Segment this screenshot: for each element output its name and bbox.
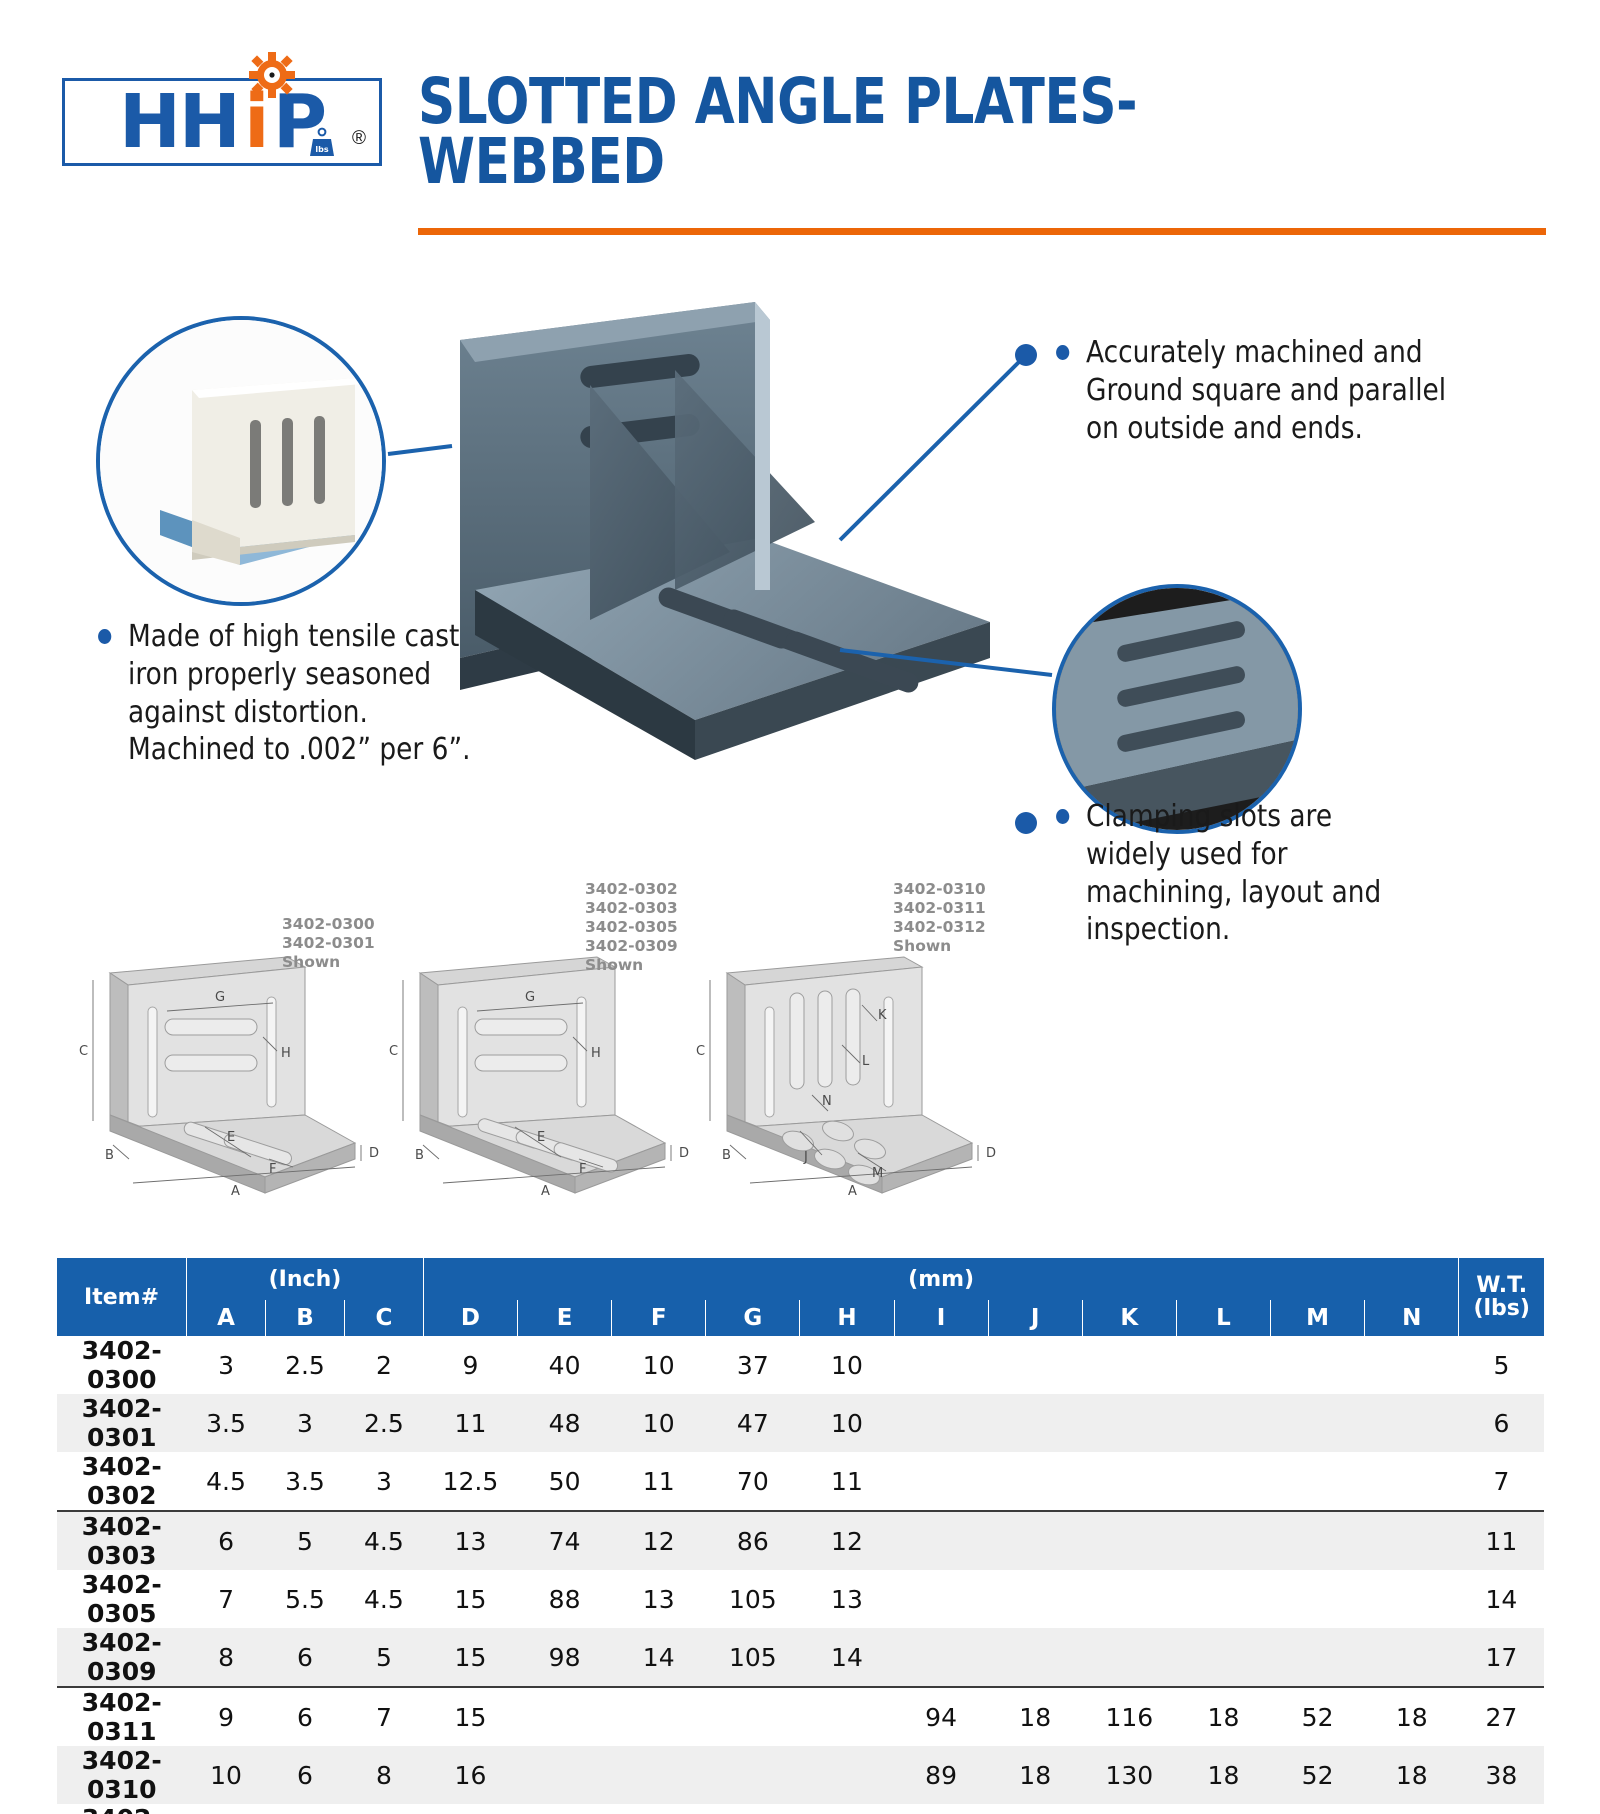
- cell-G: 105: [706, 1570, 800, 1628]
- cell-K: 116: [1082, 1687, 1176, 1746]
- dim-label-G: G: [525, 990, 535, 1005]
- cell-G: 37: [706, 1336, 800, 1394]
- cell-L: 20: [1176, 1804, 1270, 1814]
- cell-B: 3: [265, 1394, 344, 1452]
- th-col-F: F: [612, 1300, 706, 1336]
- cell-I: [894, 1511, 988, 1570]
- cell-F: 12: [612, 1511, 706, 1570]
- dim-label-G: G: [215, 990, 225, 1005]
- bullet-icon: [1056, 345, 1069, 360]
- cell-H: 13: [800, 1570, 894, 1628]
- table-row: 3402-030032.529401037105: [57, 1336, 1544, 1394]
- th-col-A: A: [187, 1300, 266, 1336]
- cell-K: 150: [1082, 1804, 1176, 1814]
- cell-F: 10: [612, 1336, 706, 1394]
- th-col-M: M: [1271, 1300, 1365, 1336]
- diagram-two-slot-wide: C G H E F B A D: [365, 945, 720, 1200]
- hhip-logo: HHiP lbs: [62, 78, 382, 166]
- cell-J: [988, 1628, 1082, 1687]
- cell-L: [1176, 1336, 1270, 1394]
- bullet-icon: [1056, 809, 1069, 824]
- table-row: 3402-03098651598141051417: [57, 1628, 1544, 1687]
- cell-H: 12: [800, 1511, 894, 1570]
- cell-I: [894, 1570, 988, 1628]
- dimension-diagrams: C G H E F B A D 3402-0300 3402-0301 Show…: [0, 945, 1600, 1210]
- cell-J: 18: [988, 1746, 1082, 1804]
- gear-icon: [249, 52, 295, 98]
- table-row: 3402-030575.54.51588131051314: [57, 1570, 1544, 1628]
- cell-F: 11: [612, 1452, 706, 1511]
- cell-N: 20: [1365, 1804, 1459, 1814]
- cell-N: [1365, 1511, 1459, 1570]
- th-item: Item#: [57, 1258, 187, 1336]
- page-title: SLOTTED ANGLE PLATES-WEBBED: [418, 72, 1222, 193]
- th-col-H: H: [800, 1300, 894, 1336]
- cell-K: 130: [1082, 1746, 1176, 1804]
- cell-F: [612, 1746, 706, 1804]
- th-group-mm: (mm): [423, 1258, 1458, 1300]
- cell-weight: 17: [1459, 1628, 1544, 1687]
- cell-H: 14: [800, 1628, 894, 1687]
- th-col-L: L: [1176, 1300, 1270, 1336]
- dim-label-H: H: [591, 1046, 601, 1061]
- cell-H: 11: [800, 1452, 894, 1511]
- diagram-3-part-numbers: 3402-0310 3402-0311 3402-0312 Shown: [893, 880, 986, 956]
- cell-L: [1176, 1628, 1270, 1687]
- specifications-table: Item# (Inch) (mm) W.T. (lbs) A B C D E F…: [57, 1258, 1544, 1814]
- cell-J: 20: [988, 1804, 1082, 1814]
- dim-label-C: C: [79, 1044, 88, 1059]
- cell-item: 3402-0311: [57, 1687, 187, 1746]
- cell-N: [1365, 1336, 1459, 1394]
- dim-label-A: A: [541, 1184, 550, 1199]
- cell-E: 98: [518, 1628, 612, 1687]
- cell-B: 5.5: [265, 1570, 344, 1628]
- th-group-inch: (Inch): [187, 1258, 424, 1300]
- cell-C: 4.5: [344, 1511, 423, 1570]
- dim-label-B: B: [722, 1148, 731, 1163]
- diagram-2-part-numbers: 3402-0302 3402-0303 3402-0305 3402-0309 …: [585, 880, 678, 975]
- cell-weight: 50: [1459, 1804, 1544, 1814]
- dim-label-N: N: [822, 1094, 832, 1109]
- table-row: 3402-03024.53.5312.5501170117: [57, 1452, 1544, 1511]
- cell-M: [1271, 1394, 1365, 1452]
- cell-L: [1176, 1511, 1270, 1570]
- cell-A: 11: [187, 1804, 266, 1814]
- cell-weight: 38: [1459, 1746, 1544, 1804]
- cell-M: [1271, 1628, 1365, 1687]
- specifications-table-wrapper: Item# (Inch) (mm) W.T. (lbs) A B C D E F…: [57, 1258, 1544, 1814]
- cell-item: 3402-0302: [57, 1452, 187, 1511]
- cell-item: 3402-0300: [57, 1336, 187, 1394]
- cell-B: 3.5: [265, 1452, 344, 1511]
- dim-label-H: H: [281, 1046, 291, 1061]
- diagram-multi-slot: C K L N J M B A D: [672, 945, 1027, 1200]
- dim-label-M: M: [872, 1166, 883, 1181]
- cell-weight: 11: [1459, 1511, 1544, 1570]
- cell-H: [800, 1746, 894, 1804]
- callout-slots: Clamping slots are widely used for machi…: [1086, 798, 1403, 949]
- cell-E: [518, 1804, 612, 1814]
- cell-F: 13: [612, 1570, 706, 1628]
- cell-weight: 27: [1459, 1687, 1544, 1746]
- table-row: 3402-03121189181282015020582050: [57, 1804, 1544, 1814]
- cell-item: 3402-0312: [57, 1804, 187, 1814]
- cell-E: 50: [518, 1452, 612, 1511]
- cell-K: [1082, 1511, 1176, 1570]
- cell-A: 4.5: [187, 1452, 266, 1511]
- cell-weight: 14: [1459, 1570, 1544, 1628]
- table-head: Item# (Inch) (mm) W.T. (lbs) A B C D E F…: [57, 1258, 1544, 1336]
- cell-I: 89: [894, 1746, 988, 1804]
- cell-J: [988, 1511, 1082, 1570]
- cell-G: [706, 1746, 800, 1804]
- cell-D: 9: [423, 1336, 517, 1394]
- dim-label-E: E: [227, 1130, 235, 1145]
- cell-E: [518, 1687, 612, 1746]
- cell-D: 15: [423, 1570, 517, 1628]
- cell-C: 2: [344, 1336, 423, 1394]
- cell-D: 18: [423, 1804, 517, 1814]
- cell-D: 16: [423, 1746, 517, 1804]
- cell-C: 7: [344, 1687, 423, 1746]
- cell-item: 3402-0301: [57, 1394, 187, 1452]
- dim-label-C: C: [389, 1044, 398, 1059]
- cell-A: 3: [187, 1336, 266, 1394]
- table-column-header-row: A B C D E F G H I J K L M N: [57, 1300, 1544, 1336]
- cell-K: [1082, 1570, 1176, 1628]
- table-row: 3402-03013.532.511481047106: [57, 1394, 1544, 1452]
- dim-label-K: K: [878, 1008, 887, 1023]
- table-row: 3402-0310106816891813018521838: [57, 1746, 1544, 1804]
- cell-K: [1082, 1336, 1176, 1394]
- cell-H: [800, 1687, 894, 1746]
- cell-A: 7: [187, 1570, 266, 1628]
- dim-label-J: J: [803, 1150, 808, 1165]
- cell-E: 48: [518, 1394, 612, 1452]
- cell-I: 128: [894, 1804, 988, 1814]
- cell-E: [518, 1746, 612, 1804]
- cell-N: 18: [1365, 1746, 1459, 1804]
- bullet-icon: [98, 629, 111, 644]
- cell-G: 105: [706, 1628, 800, 1687]
- cell-D: 12.5: [423, 1452, 517, 1511]
- cell-B: 6: [265, 1687, 344, 1746]
- cell-M: 52: [1271, 1687, 1365, 1746]
- cell-C: 4.5: [344, 1570, 423, 1628]
- cell-weight: 6: [1459, 1394, 1544, 1452]
- cell-L: [1176, 1570, 1270, 1628]
- cell-I: [894, 1336, 988, 1394]
- cell-I: [894, 1628, 988, 1687]
- cell-C: 9: [344, 1804, 423, 1814]
- dim-label-A: A: [231, 1184, 240, 1199]
- cell-G: 70: [706, 1452, 800, 1511]
- cell-A: 8: [187, 1628, 266, 1687]
- cell-F: 10: [612, 1394, 706, 1452]
- cell-I: [894, 1452, 988, 1511]
- th-col-E: E: [518, 1300, 612, 1336]
- cell-G: 86: [706, 1511, 800, 1570]
- cell-M: 58: [1271, 1804, 1365, 1814]
- cell-E: 88: [518, 1570, 612, 1628]
- cell-L: [1176, 1394, 1270, 1452]
- cell-M: [1271, 1336, 1365, 1394]
- dim-label-L: L: [862, 1054, 870, 1069]
- th-col-K: K: [1082, 1300, 1176, 1336]
- cell-item: 3402-0310: [57, 1746, 187, 1804]
- table-body: 3402-030032.5294010371053402-03013.532.5…: [57, 1336, 1544, 1814]
- cell-N: [1365, 1452, 1459, 1511]
- dim-label-B: B: [105, 1148, 114, 1163]
- cell-A: 10: [187, 1746, 266, 1804]
- callout-slots-text: Clamping slots are widely used for machi…: [1086, 799, 1381, 947]
- title-underline-rule: [418, 228, 1546, 235]
- cell-G: [706, 1804, 800, 1814]
- cell-B: 5: [265, 1511, 344, 1570]
- logo-letter-h1: H: [119, 85, 179, 159]
- cell-M: 52: [1271, 1746, 1365, 1804]
- th-weight: W.T. (lbs): [1459, 1258, 1544, 1336]
- cell-M: [1271, 1452, 1365, 1511]
- cell-C: 8: [344, 1746, 423, 1804]
- logo-letter-h2: H: [179, 85, 239, 159]
- cell-D: 15: [423, 1628, 517, 1687]
- cell-H: 10: [800, 1336, 894, 1394]
- cell-item: 3402-0309: [57, 1628, 187, 1687]
- callout-accuracy-text: Accurately machined and Ground square an…: [1086, 335, 1446, 446]
- th-col-I: I: [894, 1300, 988, 1336]
- callout-material-text: Made of high tensile cast iron properly …: [128, 619, 471, 767]
- cell-H: 10: [800, 1394, 894, 1452]
- cell-weight: 5: [1459, 1336, 1544, 1394]
- cell-item: 3402-0305: [57, 1570, 187, 1628]
- diagram-1-part-numbers: 3402-0300 3402-0301 Shown: [282, 915, 375, 972]
- cell-J: 18: [988, 1687, 1082, 1746]
- cell-M: [1271, 1511, 1365, 1570]
- cell-A: 3.5: [187, 1394, 266, 1452]
- cell-D: 13: [423, 1511, 517, 1570]
- th-col-J: J: [988, 1300, 1082, 1336]
- cell-B: 6: [265, 1746, 344, 1804]
- th-col-N: N: [1365, 1300, 1459, 1336]
- cell-N: [1365, 1394, 1459, 1452]
- cell-J: [988, 1570, 1082, 1628]
- cell-G: [706, 1687, 800, 1746]
- cell-L: 18: [1176, 1687, 1270, 1746]
- cell-K: [1082, 1452, 1176, 1511]
- dim-label-B: B: [415, 1148, 424, 1163]
- cell-D: 11: [423, 1394, 517, 1452]
- cell-L: [1176, 1452, 1270, 1511]
- callout-material: Made of high tensile cast iron properly …: [128, 618, 480, 769]
- cell-H: [800, 1804, 894, 1814]
- callout-accuracy: Accurately machined and Ground square an…: [1086, 334, 1456, 447]
- cell-F: [612, 1804, 706, 1814]
- cell-K: [1082, 1394, 1176, 1452]
- cell-I: [894, 1394, 988, 1452]
- cell-G: 47: [706, 1394, 800, 1452]
- cell-C: 2.5: [344, 1394, 423, 1452]
- table-group-header-row: Item# (Inch) (mm) W.T. (lbs): [57, 1258, 1544, 1300]
- cell-F: 14: [612, 1628, 706, 1687]
- cell-B: 2.5: [265, 1336, 344, 1394]
- cell-N: 18: [1365, 1687, 1459, 1746]
- cell-N: [1365, 1570, 1459, 1628]
- table-row: 3402-0303654.5137412861211: [57, 1511, 1544, 1570]
- cell-D: 15: [423, 1687, 517, 1746]
- th-col-D: D: [423, 1300, 517, 1336]
- th-col-G: G: [706, 1300, 800, 1336]
- weight-lbs-icon: lbs: [307, 127, 337, 157]
- dim-label-F: F: [269, 1162, 276, 1177]
- cell-item: 3402-0303: [57, 1511, 187, 1570]
- dim-label-E: E: [537, 1130, 545, 1145]
- dim-label-A: A: [848, 1184, 857, 1199]
- cell-A: 6: [187, 1511, 266, 1570]
- cell-I: 94: [894, 1687, 988, 1746]
- dim-label-F: F: [579, 1162, 586, 1177]
- table-row: 3402-031196715941811618521827: [57, 1687, 1544, 1746]
- catalog-page: HHiP lbs ® SLOTTED ANGLE PLATES-WEBBED: [0, 0, 1600, 1814]
- cell-K: [1082, 1628, 1176, 1687]
- cell-B: 6: [265, 1628, 344, 1687]
- cell-L: 18: [1176, 1746, 1270, 1804]
- cell-A: 9: [187, 1687, 266, 1746]
- th-col-B: B: [265, 1300, 344, 1336]
- cell-N: [1365, 1628, 1459, 1687]
- th-col-C: C: [344, 1300, 423, 1336]
- cell-J: [988, 1452, 1082, 1511]
- cell-J: [988, 1336, 1082, 1394]
- cell-M: [1271, 1570, 1365, 1628]
- cell-E: 40: [518, 1336, 612, 1394]
- cell-B: 8: [265, 1804, 344, 1814]
- weight-icon-label: lbs: [315, 145, 328, 154]
- dim-label-D: D: [986, 1146, 996, 1161]
- cell-J: [988, 1394, 1082, 1452]
- cell-E: 74: [518, 1511, 612, 1570]
- registered-trademark-icon: ®: [352, 128, 366, 150]
- cell-weight: 7: [1459, 1452, 1544, 1511]
- cell-F: [612, 1687, 706, 1746]
- dim-label-C: C: [696, 1044, 705, 1059]
- cell-C: 3: [344, 1452, 423, 1511]
- cell-C: 5: [344, 1628, 423, 1687]
- diagram-two-slot: C G H E F B A D: [55, 945, 410, 1200]
